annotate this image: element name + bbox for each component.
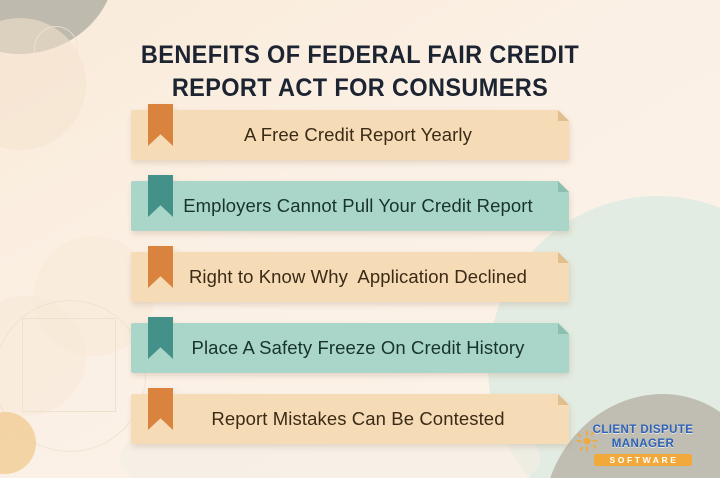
brand-subtitle: Software <box>594 454 692 467</box>
brand-name-line-2: Manager <box>580 438 706 452</box>
benefit-item-3: Right to Know Why Application Declined <box>131 252 569 302</box>
page-title-line-1: BENEFITS OF FEDERAL FAIR CREDIT <box>22 39 699 72</box>
decorative-arc-peach-left <box>0 296 86 416</box>
benefit-item-5: Report Mistakes Can Be Contested <box>131 394 569 444</box>
decorative-outline-square <box>22 318 116 412</box>
brand-name: Client Dispute Manager <box>580 424 706 451</box>
page-title-line-2: REPORT ACT FOR CONSUMERS <box>22 72 699 105</box>
benefit-item-4: Place A Safety Freeze On Credit History <box>131 323 569 373</box>
page-title: BENEFITS OF FEDERAL FAIR CREDIT REPORT A… <box>22 39 699 105</box>
benefit-label: A Free Credit Report Yearly <box>131 124 569 146</box>
corner-fold-icon <box>558 181 569 192</box>
sunburst-icon <box>576 430 598 452</box>
benefits-list: A Free Credit Report Yearly Employers Ca… <box>131 110 569 465</box>
benefit-label: Report Mistakes Can Be Contested <box>131 408 569 430</box>
brand-name-line-1: Client Dispute <box>580 424 706 438</box>
corner-fold-icon <box>558 252 569 263</box>
brand-logo: Client Dispute Manager Software <box>580 424 706 466</box>
benefit-label: Place A Safety Freeze On Credit History <box>131 337 569 359</box>
corner-fold-icon <box>558 394 569 405</box>
decorative-circle-orange-corner <box>0 412 36 474</box>
benefit-item-2: Employers Cannot Pull Your Credit Report <box>131 181 569 231</box>
benefit-item-1: A Free Credit Report Yearly <box>131 110 569 160</box>
infographic-canvas: BENEFITS OF FEDERAL FAIR CREDIT REPORT A… <box>0 0 720 478</box>
corner-fold-icon <box>558 323 569 334</box>
decorative-outline-arc <box>0 300 146 452</box>
benefit-label: Right to Know Why Application Declined <box>131 266 569 288</box>
benefit-label: Employers Cannot Pull Your Credit Report <box>131 195 569 217</box>
corner-fold-icon <box>558 110 569 121</box>
